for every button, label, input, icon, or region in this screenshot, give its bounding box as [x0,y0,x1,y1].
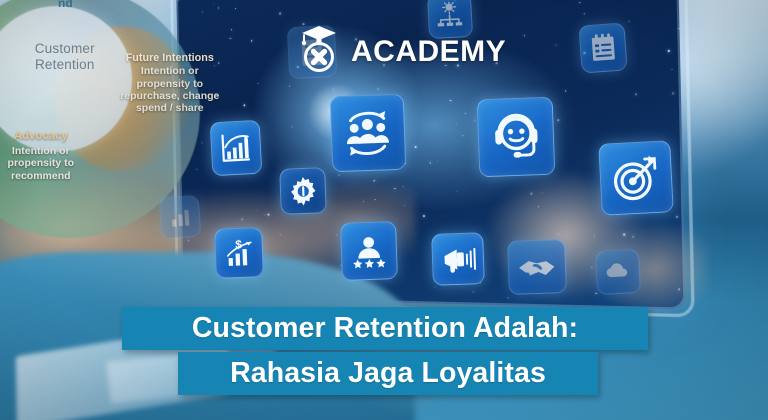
dollar-growth-chart-icon: $ [214,227,264,279]
svg-text:$: $ [235,238,242,252]
cloud-tile-ghost-icon [595,249,641,295]
hero-banner-image: Customer Retention Future Intentions Int… [0,0,768,420]
venn-advocacy-body: Intention or propensity to recommend [0,145,95,182]
venn-core-line2: Retention [35,57,95,72]
clipboard-checklist-icon [578,22,627,73]
venn-core-line1: Customer [35,41,95,56]
handshake-icon [507,239,567,295]
megaphone-icon [431,232,485,286]
title-line1-text: Customer Retention Adalah: [192,312,578,345]
venn-future-body: Intention or propensity to repurchase, c… [117,65,223,115]
target-arrow-icon [598,140,674,216]
title-banner-line2: Rahasia Jaga Loyalitas [178,352,598,395]
venn-future-heading: Future Intentions [117,52,223,65]
brand-name: ACADEMY [351,35,506,69]
gear-icon [279,167,327,215]
venn-advocacy-heading: Advocacy [0,130,95,143]
customer-retention-cycle-icon [330,94,407,173]
customer-rating-stars-icon [340,221,398,281]
venn-partial-top-word: nd [58,0,73,10]
chart-tile-ghost-icon [159,195,202,240]
venn-segment-advocacy: Advocacy Intention or propensity to reco… [0,130,95,183]
title-banner-line1: Customer Retention Adalah: [122,307,648,350]
brand-logo[interactable]: ACADEMY [296,24,506,79]
title-line2-text: Rahasia Jaga Loyalitas [230,357,546,390]
bar-chart-growth-icon [210,120,263,177]
academy-graduation-cap-x-logo-icon [296,24,342,79]
venn-core-label: Customer Retention [8,41,122,73]
venn-segment-future-intentions: Future Intentions Intention or propensit… [117,52,223,115]
headset-support-icon [477,97,556,178]
